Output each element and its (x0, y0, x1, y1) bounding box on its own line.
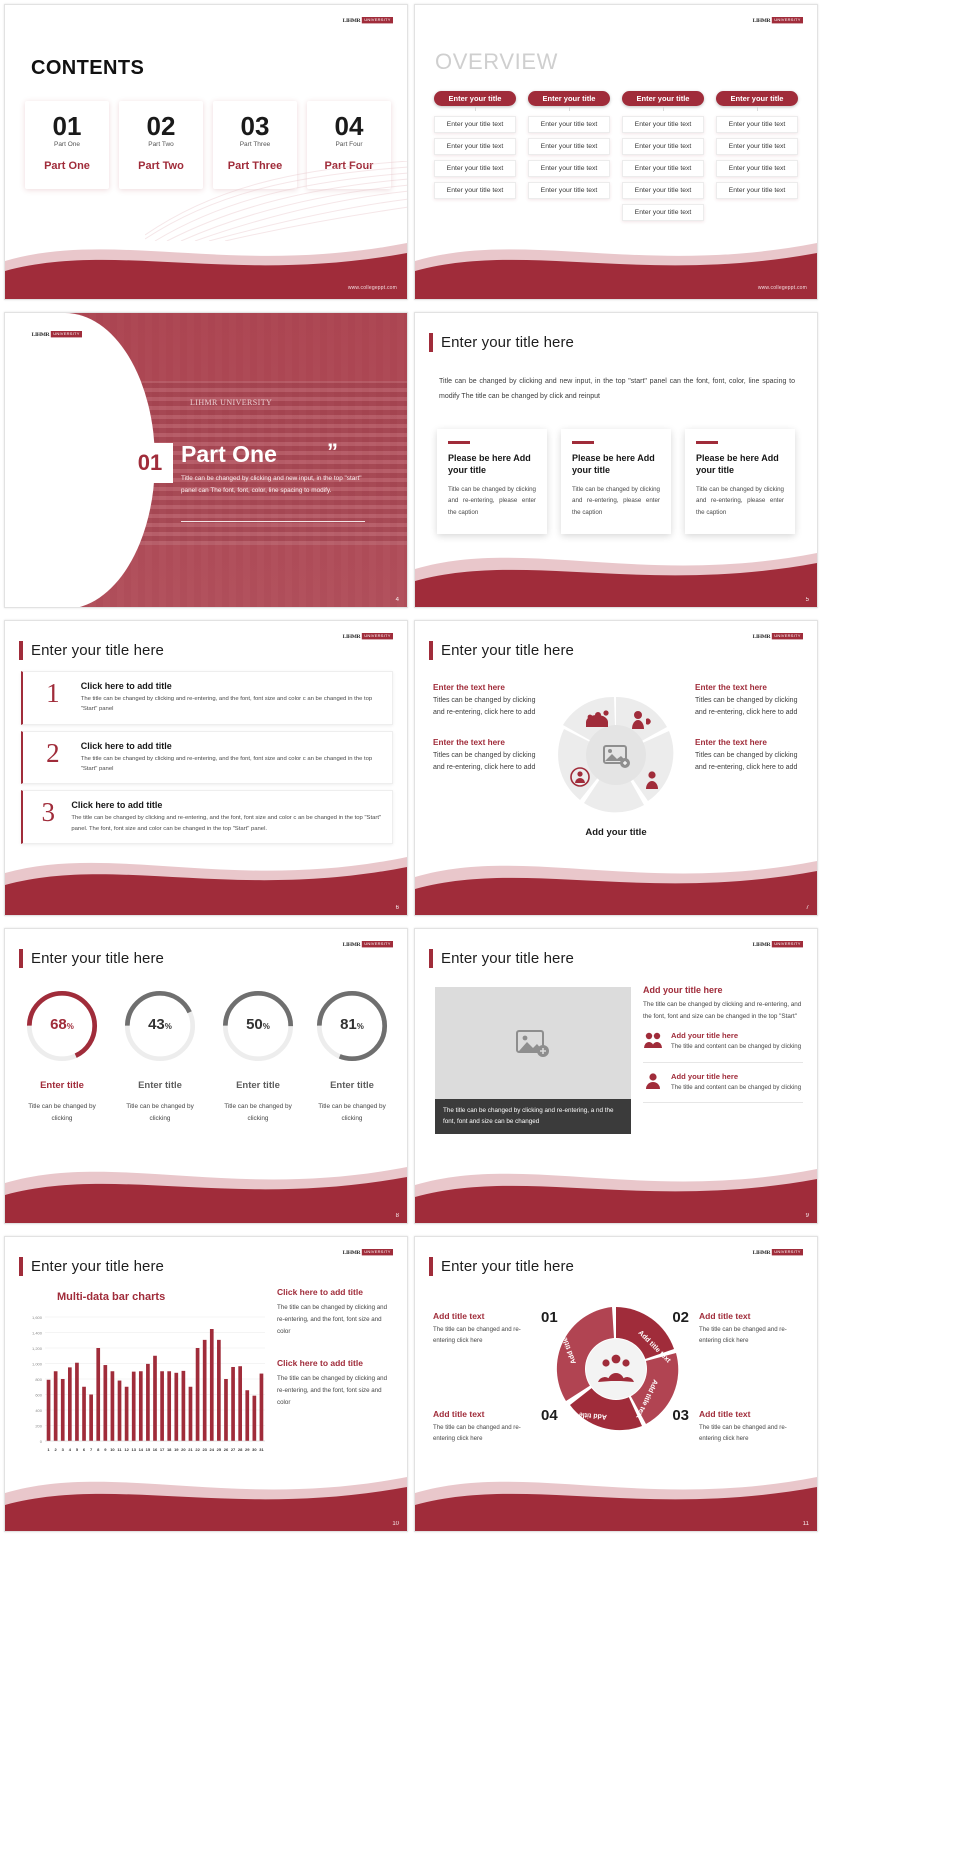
ring-caption: Title can be changed by clicking (221, 1101, 295, 1124)
title-accent-bar (429, 949, 433, 968)
footer-wave (415, 1459, 817, 1531)
overview-cell[interactable]: Enter your title text (622, 116, 704, 133)
svg-text:27: 27 (231, 1447, 236, 1452)
logo-text: LIHMR (753, 633, 771, 639)
slide-overview[interactable]: LIHMR UNIVERSITY OVERVIEW Enter your tit… (414, 4, 818, 300)
logo-tag: UNIVERSITY (772, 1249, 803, 1255)
percent-ring-item[interactable]: 81% Enter title Title can be changed by … (315, 989, 389, 1124)
title-text: Enter your title here (441, 950, 574, 967)
card-label: Part One (44, 160, 90, 172)
page-number: 10 (392, 1521, 399, 1527)
svg-text:25: 25 (217, 1447, 222, 1452)
card-title: Please be here Add your title (696, 452, 784, 476)
overview-cell[interactable]: Enter your title text (622, 204, 704, 221)
title-accent-bar (19, 1257, 23, 1276)
label-body: Titles can be changed by clicking and re… (695, 695, 803, 720)
item-body: The title and content can be changed by … (671, 1083, 801, 1093)
slide-percent-rings[interactable]: LIHMR UNIVERSITY Enter your title here 6… (4, 928, 408, 1224)
image-caption: The title can be changed by clicking and… (435, 1099, 631, 1134)
cycle-quadrant[interactable]: Add title text The title can be changed … (699, 1311, 799, 1347)
overview-cell[interactable]: Enter your title text (528, 116, 610, 133)
overview-cell[interactable]: Enter your title text (434, 116, 516, 133)
page-title: Enter your title here (429, 333, 574, 352)
title-accent-bar (19, 641, 23, 660)
image-placeholder-icon (515, 1028, 551, 1058)
label-heading: Enter the text here (695, 738, 803, 747)
overview-cell[interactable]: Enter your title text (434, 160, 516, 177)
left-labels: Enter the text here Titles can be change… (433, 683, 541, 792)
item-title: Click here to add title (71, 800, 382, 810)
quadrant-body: The title can be changed and re-entering… (433, 1423, 533, 1445)
ring-caption: Title can be changed by clicking (123, 1101, 197, 1124)
card-list: Please be here Add your title Title can … (437, 429, 795, 534)
connector (663, 106, 664, 111)
quadrant-heading: Add title text (433, 1409, 533, 1419)
ring-unit: % (357, 1022, 364, 1031)
page-title: Enter your title here (429, 1257, 574, 1276)
slide-deck: LIHMR UNIVERSITY CONTENTS 01 Part One Pa… (0, 0, 960, 1850)
connector (569, 106, 570, 111)
svg-text:31: 31 (259, 1447, 264, 1452)
overview-cell[interactable]: Enter your title text (622, 138, 704, 155)
list-item[interactable]: Add your title here The title and conten… (643, 1063, 803, 1103)
overview-column: Enter your title Enter your title text E… (715, 91, 799, 221)
title-text: Enter your title here (31, 1258, 164, 1275)
section-title: Part One (181, 441, 277, 468)
list-container: 1 Click here to add title The title can … (21, 671, 393, 850)
svg-text:15: 15 (146, 1447, 151, 1452)
label-heading: Enter the text here (433, 738, 541, 747)
footer-wave (415, 843, 817, 915)
svg-text:24: 24 (210, 1447, 215, 1452)
footer-site: www.collegeppt.com (758, 285, 807, 291)
logo-text: LIHMR (32, 331, 50, 337)
title-text: Enter your title here (441, 642, 574, 659)
logo-tag: UNIVERSITY (362, 941, 393, 947)
section-heading: Add your title here (643, 985, 803, 995)
svg-text:14: 14 (139, 1447, 144, 1452)
ring-value: 43 (148, 1016, 165, 1033)
page-title: Enter your title here (429, 949, 574, 968)
page-number: 11 (803, 1521, 809, 1527)
card-title: Please be here Add your title (448, 452, 536, 476)
wheel-hub (586, 725, 646, 785)
card-accent-dash (572, 441, 594, 444)
card-accent-dash (448, 441, 470, 444)
logo-tag: UNIVERSITY (362, 17, 393, 23)
card-subtitle: Part Two (148, 141, 174, 148)
svg-text:400: 400 (35, 1408, 42, 1413)
quote-mark-icon: ” (327, 439, 338, 465)
item-body: The title can be changed by clicking and… (71, 813, 382, 834)
svg-text:19: 19 (174, 1447, 179, 1452)
diagram-center-label: Add your title (415, 827, 817, 838)
logo-tag: UNIVERSITY (51, 331, 82, 337)
quadrant-body: The title can be changed and re-entering… (699, 1325, 799, 1347)
section-body: Title can be changed by clicking and new… (181, 473, 366, 497)
overview-column: Enter your title Enter your title text E… (527, 91, 611, 221)
brand-logo: LIHMR UNIVERSITY (753, 633, 803, 639)
svg-text:11: 11 (117, 1447, 122, 1452)
svg-text:1,200: 1,200 (32, 1346, 43, 1351)
ring-unit: % (165, 1022, 172, 1031)
person-icon (643, 1072, 663, 1090)
svg-text:9: 9 (104, 1447, 107, 1452)
brand-logo: LIHMR UNIVERSITY (753, 17, 803, 23)
ring-label: Enter title (123, 1080, 197, 1091)
item-number: 1 (39, 681, 67, 707)
info-card[interactable]: Please be here Add your title Title can … (561, 429, 671, 534)
logo-tag: UNIVERSITY (772, 17, 803, 23)
brand-logo: LIHMR UNIVERSITY (753, 941, 803, 947)
contents-card[interactable]: 01 Part One Part One (25, 101, 109, 189)
note-body: The title can be changed by clicking and… (277, 1302, 395, 1338)
title-accent-bar (429, 1257, 433, 1276)
svg-text:30: 30 (252, 1447, 257, 1452)
list-item[interactable]: Add your title here The title and conten… (643, 1022, 803, 1062)
brand-logo: LIHMR UNIVERSITY (32, 331, 82, 337)
slide-bar-chart[interactable]: LIHMR UNIVERSITY Enter your title here M… (4, 1236, 408, 1532)
svg-text:13: 13 (131, 1447, 136, 1452)
card-accent-dash (696, 441, 718, 444)
item-body: The title can be changed by clicking and… (81, 754, 382, 775)
card-subtitle: Part One (54, 141, 80, 148)
overview-cell[interactable]: Enter your title text (528, 138, 610, 155)
label-body: Titles can be changed by clicking and re… (433, 750, 541, 775)
ring-value: 81 (340, 1016, 357, 1033)
percent-ring-item[interactable]: 50% Enter title Title can be changed by … (221, 989, 295, 1124)
overview-cell[interactable]: Enter your title text (622, 160, 704, 177)
svg-text:29: 29 (245, 1447, 250, 1452)
svg-text:1: 1 (47, 1447, 50, 1452)
svg-text:800: 800 (35, 1377, 42, 1382)
svg-text:17: 17 (160, 1447, 165, 1452)
right-content: Add your title here The title can be cha… (643, 985, 803, 1103)
svg-text:26: 26 (224, 1447, 229, 1452)
card-number: 01 (53, 113, 82, 139)
overview-cell[interactable]: Enter your title text (528, 160, 610, 177)
connector (475, 106, 476, 111)
title-text: Enter your title here (441, 1258, 574, 1275)
slide-part-one-cover[interactable]: LIHMR UNIVERSITY LIHMR UNIVERSITY 01 Par… (4, 312, 408, 608)
svg-text:23: 23 (202, 1447, 207, 1452)
svg-text:16: 16 (153, 1447, 158, 1452)
footer-wave (5, 1459, 407, 1531)
percent-ring-item[interactable]: 68% Enter title Title can be changed by … (25, 989, 99, 1124)
title-accent-bar (19, 949, 23, 968)
title-text: Enter your title here (31, 950, 164, 967)
logo-tag: UNIVERSITY (362, 633, 393, 639)
card-number: 04 (335, 113, 364, 139)
label-body: Titles can be changed by clicking and re… (433, 695, 541, 720)
card-number: 03 (241, 113, 270, 139)
item-body: The title can be changed by clicking and… (81, 694, 382, 715)
quadrant-heading: Add title text (433, 1311, 533, 1321)
overview-cell[interactable]: Enter your title text (716, 160, 798, 177)
overview-column: Enter your title Enter your title text E… (621, 91, 705, 221)
title-accent-bar (429, 333, 433, 352)
section-number-badge: 01 (127, 443, 173, 483)
brand-logo: LIHMR UNIVERSITY (343, 17, 393, 23)
svg-text:7: 7 (90, 1447, 93, 1452)
brand-logo: LIHMR UNIVERSITY (343, 1249, 393, 1255)
ring-label: Enter title (25, 1080, 99, 1091)
card-subtitle: Part Four (335, 141, 362, 148)
label-heading: Enter the text here (695, 683, 803, 692)
item-number: 2 (39, 741, 67, 767)
quadrant-heading: Add title text (699, 1311, 799, 1321)
brand-logo: LIHMR UNIVERSITY (343, 633, 393, 639)
item-heading: Add your title here (671, 1072, 801, 1081)
title-accent-bar (429, 641, 433, 660)
svg-text:1,400: 1,400 (32, 1331, 43, 1336)
logo-text: LIHMR (753, 17, 771, 23)
svg-text:200: 200 (35, 1424, 42, 1429)
diagram-label[interactable]: Enter the text here Titles can be change… (433, 738, 541, 775)
slide-numbered-list[interactable]: LIHMR UNIVERSITY Enter your title here 1… (4, 620, 408, 916)
label-body: Titles can be changed by clicking and re… (695, 750, 803, 775)
slide-image-and-list[interactable]: LIHMR UNIVERSITY Enter your title here T… (414, 928, 818, 1224)
logo-tag: UNIVERSITY (772, 633, 803, 639)
svg-text:0: 0 (40, 1439, 43, 1444)
label-heading: Enter the text here (433, 683, 541, 692)
card-title: Please be here Add your title (572, 452, 660, 476)
bar-chart: 02004006008001,0001,2001,4001,6001234567… (19, 1311, 271, 1459)
overview-cell[interactable]: Enter your title text (434, 138, 516, 155)
column-pill[interactable]: Enter your title (622, 91, 704, 106)
overview-cell[interactable]: Enter your title text (716, 116, 798, 133)
logo-text: LIHMR (753, 1249, 771, 1255)
slide-three-cards[interactable]: Enter your title here Title can be chang… (414, 312, 818, 608)
page-title: Enter your title here (19, 1257, 164, 1276)
connector (757, 106, 758, 111)
column-pill[interactable]: Enter your title (434, 91, 516, 106)
footer-wave (415, 1151, 817, 1223)
column-pill[interactable]: Enter your title (716, 91, 798, 106)
cycle-quadrant[interactable]: Add title text The title can be changed … (699, 1409, 799, 1445)
svg-text:18: 18 (167, 1447, 172, 1452)
page-number: 4 (396, 597, 399, 603)
cycle-quadrant[interactable]: Add title text The title can be changed … (433, 1409, 533, 1445)
page-title: Enter your title here (429, 641, 574, 660)
page-number: 8 (396, 1213, 399, 1219)
page-number: 5 (806, 597, 809, 603)
ring-value: 50 (246, 1016, 263, 1033)
svg-text:3: 3 (62, 1447, 65, 1452)
overview-cell[interactable]: Enter your title text (528, 182, 610, 199)
item-heading: Add your title here (671, 1031, 801, 1040)
overview-cell[interactable]: Enter your title text (434, 182, 516, 199)
logo-tag: UNIVERSITY (772, 941, 803, 947)
logo-text: LIHMR (753, 941, 771, 947)
divider (181, 521, 365, 522)
card-subtitle: Part Three (240, 141, 271, 148)
ring-unit: % (263, 1022, 270, 1031)
svg-text:28: 28 (238, 1447, 243, 1452)
svg-text:1,000: 1,000 (32, 1362, 43, 1367)
item-body: The title and content can be changed by … (671, 1042, 801, 1052)
svg-text:20: 20 (181, 1447, 186, 1452)
page-number: 6 (396, 905, 399, 911)
slide-circle-diagram[interactable]: LIHMR UNIVERSITY Enter your title here E… (414, 620, 818, 916)
note-heading: Click here to add title (277, 1287, 395, 1297)
svg-text:12: 12 (124, 1447, 129, 1452)
logo-text: LIHMR (343, 1249, 361, 1255)
diagram-label[interactable]: Enter the text here Titles can be change… (695, 683, 803, 720)
overview-column: Enter your title Enter your title text E… (433, 91, 517, 221)
item-title: Click here to add title (81, 741, 382, 751)
svg-text:8: 8 (97, 1447, 100, 1452)
overview-columns: Enter your title Enter your title text E… (433, 91, 799, 221)
ring-value: 68 (50, 1016, 67, 1033)
item-title: Click here to add title (81, 681, 382, 691)
page-title: Enter your title here (19, 949, 164, 968)
page-title: Enter your title here (19, 641, 164, 660)
item-number: 3 (39, 800, 57, 826)
list-item[interactable]: 3 Click here to add title The title can … (21, 790, 393, 844)
svg-text:2: 2 (55, 1447, 58, 1452)
overview-cell[interactable]: Enter your title text (716, 138, 798, 155)
svg-text:1,600: 1,600 (32, 1315, 43, 1320)
logo-text: LIHMR (343, 633, 361, 639)
svg-text:10: 10 (110, 1447, 115, 1452)
card-body: Title can be changed by clicking and re-… (572, 484, 660, 518)
quadrant-body: The title can be changed and re-entering… (699, 1423, 799, 1445)
footer-site: www.collegeppt.com (348, 285, 397, 291)
page-number: 9 (806, 1213, 809, 1219)
svg-text:21: 21 (188, 1447, 193, 1452)
footer-wave (5, 843, 407, 915)
segmented-wheel-diagram[interactable] (552, 691, 680, 819)
list-item[interactable]: 2 Click here to add title The title can … (21, 731, 393, 785)
note-heading: Click here to add title (277, 1358, 395, 1368)
column-pill[interactable]: Enter your title (528, 91, 610, 106)
page-title: CONTENTS (31, 57, 144, 80)
ring-caption: Title can be changed by clicking (25, 1101, 99, 1124)
footer-wave (5, 227, 407, 299)
footer-wave (415, 227, 817, 299)
slide-contents[interactable]: LIHMR UNIVERSITY CONTENTS 01 Part One Pa… (4, 4, 408, 300)
logo-text: LIHMR (343, 17, 361, 23)
title-text: Enter your title here (31, 642, 164, 659)
svg-text:600: 600 (35, 1393, 42, 1398)
card-body: Title can be changed by clicking and re-… (448, 484, 536, 518)
chart-notes: Click here to add title The title can be… (277, 1287, 395, 1410)
overview-cell[interactable]: Enter your title text (716, 182, 798, 199)
section-body: The title can be changed by clicking and… (643, 999, 803, 1022)
diagram-label[interactable]: Enter the text here Titles can be change… (433, 683, 541, 720)
ring-label: Enter title (315, 1080, 389, 1091)
brand-logo: LIHMR UNIVERSITY (753, 1249, 803, 1255)
info-card[interactable]: Please be here Add your title Title can … (437, 429, 547, 534)
overview-cell[interactable]: Enter your title text (622, 182, 704, 199)
page-number: 7 (806, 905, 809, 911)
image-placeholder[interactable] (435, 987, 631, 1099)
footer-wave (5, 1151, 407, 1223)
cycle-wheel-diagram[interactable]: Add title text Add title text Add title … (550, 1303, 682, 1435)
ring-label: Enter title (221, 1080, 295, 1091)
list-item[interactable]: 1 Click here to add title The title can … (21, 671, 393, 725)
footer-wave (415, 535, 817, 607)
cycle-quadrant[interactable]: Add title text The title can be changed … (433, 1311, 533, 1347)
people-icon (643, 1031, 663, 1049)
ring-caption: Title can be changed by clicking (315, 1101, 389, 1124)
ring-unit: % (67, 1022, 74, 1031)
diagram-label[interactable]: Enter the text here Titles can be change… (695, 738, 803, 775)
svg-text:22: 22 (195, 1447, 200, 1452)
photo-signboard-text: LIHMR UNIVERSITY (190, 398, 272, 407)
svg-text:5: 5 (76, 1447, 79, 1452)
svg-text:4: 4 (69, 1447, 72, 1452)
quadrant-heading: Add title text (699, 1409, 799, 1419)
percent-ring-item[interactable]: 43% Enter title Title can be changed by … (123, 989, 197, 1124)
card-number: 02 (147, 113, 176, 139)
logo-text: LIHMR (343, 941, 361, 947)
page-title: OVERVIEW (435, 49, 558, 75)
right-labels: Enter the text here Titles can be change… (695, 683, 803, 792)
card-body: Title can be changed by clicking and re-… (696, 484, 784, 518)
brand-logo: LIHMR UNIVERSITY (343, 941, 393, 947)
lead-paragraph: Title can be changed by clicking and new… (439, 375, 795, 404)
note-body: The title can be changed by clicking and… (277, 1373, 395, 1409)
slide-cycle-diagram[interactable]: LIHMR UNIVERSITY Enter your title here A… (414, 1236, 818, 1532)
chart-title: Multi-data bar charts (57, 1291, 165, 1303)
svg-text:6: 6 (83, 1447, 86, 1452)
logo-tag: UNIVERSITY (362, 1249, 393, 1255)
title-text: Enter your title here (441, 334, 574, 351)
info-card[interactable]: Please be here Add your title Title can … (685, 429, 795, 534)
quadrant-body: The title can be changed and re-entering… (433, 1325, 533, 1347)
